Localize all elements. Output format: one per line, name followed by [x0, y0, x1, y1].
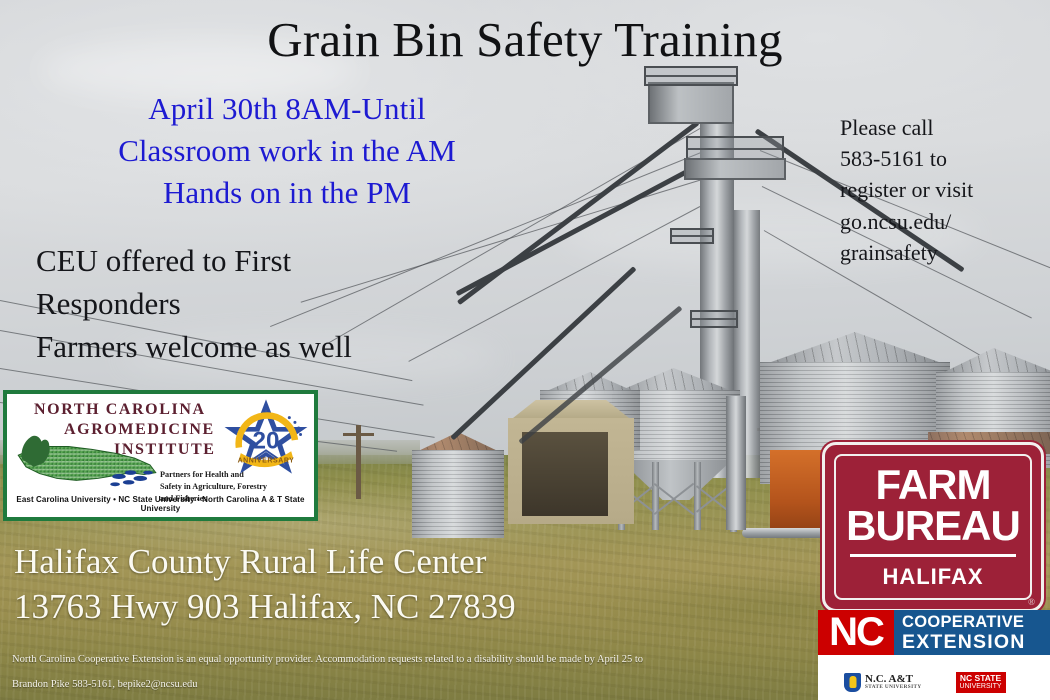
nc-state-name: NC STATE [960, 674, 1002, 683]
audience-line-3: Farmers welcome as well [36, 326, 506, 369]
contact-line-3: register or visit [840, 174, 1040, 205]
contact-block: Please call 583-5161 to register or visi… [840, 112, 1040, 268]
venue-block: Halifax County Rural Life Center 13763 H… [14, 540, 654, 630]
shed-opening [522, 432, 608, 516]
audience-line-1: CEU offered to First [36, 240, 506, 283]
nc-at-subtitle: STATE UNIVERSITY [865, 685, 922, 690]
farm-bureau-divider [850, 554, 1017, 557]
audience-line-2: Responders [36, 283, 506, 326]
contact-line-4: go.ncsu.edu/ [840, 206, 1040, 237]
extension-name: COOPERATIVE EXTENSION [894, 610, 1050, 655]
utility-pole [356, 425, 361, 499]
disclaimer-line-1: North Carolina Cooperative Extension is … [12, 648, 812, 673]
contact-line-1: Please call [840, 112, 1040, 143]
tower-railing [690, 310, 738, 328]
contact-line-5: grainsafety [840, 237, 1040, 268]
schedule-block: April 30th 8AM-Until Classroom work in t… [52, 88, 522, 214]
disclaimer-block: North Carolina Cooperative Extension is … [12, 648, 812, 697]
anniversary-number: 20 [253, 427, 280, 454]
extension-wordmark: NC COOPERATIVE EXTENSION [818, 610, 1050, 655]
bin-cross-brace [654, 470, 694, 526]
20th-anniversary-badge-icon: 20 ANNIVERSARY [224, 399, 308, 483]
extension-partner-logos: N.C. A&T STATE UNIVERSITY NC STATE UNIVE… [818, 655, 1050, 700]
north-carolina-map-icon [13, 430, 161, 492]
agro-name-line-1: NORTH CAROLINA [34, 401, 206, 419]
downspout [726, 396, 746, 530]
flyer-canvas: Grain Bin Safety Training April 30th 8AM… [0, 0, 1050, 700]
farm-bureau-word-2: BUREAU [846, 505, 1020, 546]
audience-block: CEU offered to First Responders Farmers … [36, 240, 506, 368]
grain-bin-small [412, 450, 504, 538]
tower-platform [684, 158, 786, 180]
extension-name-line-2: EXTENSION [902, 632, 1050, 653]
nc-cooperative-extension-logo: NC COOPERATIVE EXTENSION N.C. A&T STATE … [818, 610, 1050, 700]
schedule-line-1: April 30th 8AM-Until [52, 88, 522, 130]
page-title: Grain Bin Safety Training [0, 14, 1050, 67]
schedule-line-3: Hands on in the PM [52, 172, 522, 214]
contact-line-2: 583-5161 to [840, 143, 1040, 174]
orange-equipment [770, 450, 826, 536]
tower-railing [670, 228, 714, 244]
nc-state-subtitle: UNIVERSITY [960, 683, 1002, 690]
registered-trademark-icon: ® [1028, 597, 1035, 607]
extension-name-line-1: COOPERATIVE [902, 613, 1050, 632]
farm-bureau-word-1: FARM [876, 464, 991, 505]
aggie-shield-icon [844, 673, 861, 692]
nc-at-state-university-logo: N.C. A&T STATE UNIVERSITY [844, 673, 922, 692]
venue-address: 13763 Hwy 903 Halifax, NC 27839 [14, 585, 654, 630]
disclaimer-line-2: Brandon Pike 583-5161, bepike2@ncsu.edu [12, 673, 812, 698]
tower-railing [644, 66, 738, 86]
schedule-line-2: Classroom work in the AM [52, 130, 522, 172]
farm-bureau-county: HALIFAX [882, 564, 983, 590]
farm-bureau-logo: FARM BUREAU HALIFAX ® [822, 442, 1044, 612]
bin-cross-brace [696, 470, 730, 526]
agro-partner-universities: East Carolina University • NC State Univ… [10, 495, 311, 513]
venue-name: Halifax County Rural Life Center [14, 540, 654, 585]
anniversary-word: ANNIVERSARY [238, 457, 295, 464]
tower-head-house [648, 82, 734, 124]
nc-agromedicine-institute-logo: NORTH CAROLINA AGROMEDICINE INSTITUTE [3, 390, 318, 521]
extension-nc-mark: NC [818, 610, 894, 655]
nc-state-university-logo: NC STATE UNIVERSITY [956, 672, 1006, 692]
